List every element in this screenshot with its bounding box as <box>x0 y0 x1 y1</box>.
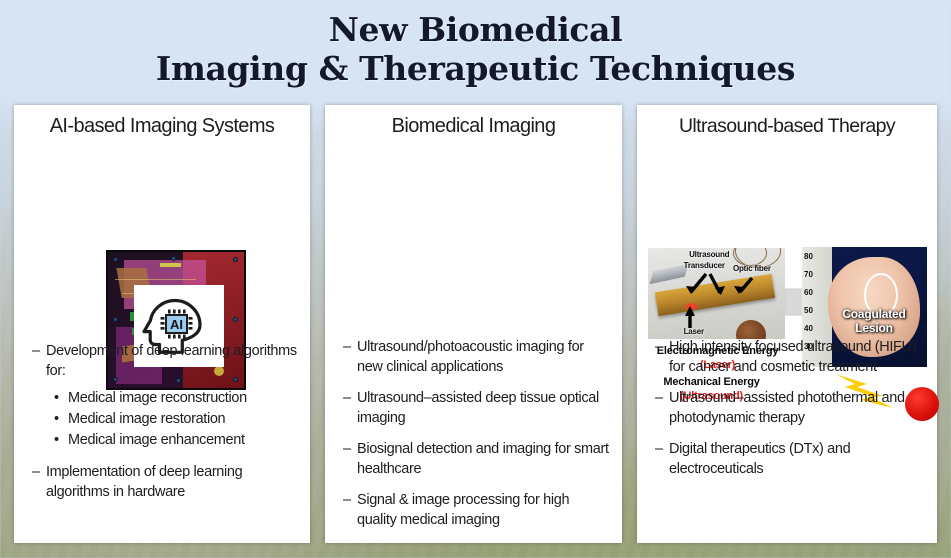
transducer-photo: Ultrasound Transducer Optic fiber Laser <box>648 248 785 339</box>
bullet-text: Biosignal detection and imaging for smar… <box>357 439 610 479</box>
sub-bullet-text: Medical image reconstruction <box>68 388 247 409</box>
ruler-tick: 80 <box>804 252 813 261</box>
panel-2-header: Biomedical Imaging <box>325 115 622 138</box>
bullet-item: – Ultrasound–assisted deep tissue optica… <box>343 388 610 428</box>
panel-3-header: Ultrasound-based Therapy <box>637 115 937 138</box>
panel-1-bullet-list: – Development of deep learning algorithm… <box>32 341 298 513</box>
sub-bullet-marker: • <box>54 409 68 430</box>
svg-text:AI: AI <box>170 317 183 332</box>
panel-ultrasound-based-therapy: Ultrasound-based Therapy Ultrasound Tran… <box>637 105 937 543</box>
bullet-text: Implementation of deep learning algorith… <box>46 462 298 502</box>
bullet-item: – High intensity focused ultrasound (HIF… <box>655 337 925 377</box>
sub-bullet-item: • Medical image restoration <box>54 409 298 430</box>
bullet-item: – Ultrasound–assisted photothermal and p… <box>655 388 925 428</box>
panel-biomedical-imaging: Biomedical Imaging a ←LC SLN Breast Spec… <box>325 105 622 543</box>
sub-bullet-text: Medical image restoration <box>68 409 225 430</box>
bullet-item: – Development of deep learning algorithm… <box>32 341 298 381</box>
bullet-item: – Digital therapeutics (DTx) and electro… <box>655 439 925 479</box>
sub-bullet-text: Medical image enhancement <box>68 430 245 451</box>
bullet-marker: – <box>655 388 669 428</box>
panel-ai-based-imaging-systems: AI-based Imaging Systems AI <box>14 105 310 543</box>
title-line-2: Imaging & Therapeutic Techniques <box>0 49 951 88</box>
sub-bullet-item: • Medical image enhancement <box>54 430 298 451</box>
bullet-text: Ultrasound/photoacoustic imaging for new… <box>357 337 610 377</box>
ruler-tick: 70 <box>804 270 813 279</box>
panel-1-header: AI-based Imaging Systems <box>14 115 310 138</box>
sub-bullet-marker: • <box>54 388 68 409</box>
bullet-marker: – <box>32 341 46 381</box>
lesion-label: Coagulated Lesion <box>824 307 924 335</box>
bullet-item: – Signal & image processing for high qua… <box>343 490 610 530</box>
bullet-item: – Biosignal detection and imaging for sm… <box>343 439 610 479</box>
ruler-tick: 60 <box>804 288 813 297</box>
bullet-marker: – <box>32 462 46 502</box>
bullet-marker: – <box>343 337 357 377</box>
bullet-text: Digital therapeutics (DTx) and electroce… <box>669 439 925 479</box>
page-title: New Biomedical Imaging & Therapeutic Tec… <box>0 10 951 88</box>
sub-bullet-item: • Medical image reconstruction <box>54 388 298 409</box>
panel-2-bullet-list: – Ultrasound/photoacoustic imaging for n… <box>343 337 610 541</box>
panel-3-bullet-list: – High intensity focused ultrasound (HIF… <box>655 337 925 490</box>
bullet-marker: – <box>655 439 669 479</box>
bullet-marker: – <box>343 490 357 530</box>
panel-1-sub-list: • Medical image reconstruction • Medical… <box>54 388 298 451</box>
effect-temperature-rise: Temperature Rise <box>943 373 951 385</box>
bullet-marker: – <box>655 337 669 377</box>
bullet-marker: – <box>343 388 357 428</box>
bullet-text: Signal & image processing for high quali… <box>357 490 610 530</box>
sub-bullet-marker: • <box>54 430 68 451</box>
effect-tissue-damage: Tissue Damage <box>943 413 951 425</box>
bullet-text: Ultrasound–assisted photothermal and pho… <box>669 388 925 428</box>
ruler-tick: 40 <box>804 324 813 333</box>
bullet-marker: – <box>343 439 357 479</box>
bullet-item: – Ultrasound/photoacoustic imaging for n… <box>343 337 610 377</box>
title-line-1: New Biomedical <box>0 10 951 49</box>
bullet-text: Development of deep learning algorithms … <box>46 341 298 381</box>
bullet-text: Ultrasound–assisted deep tissue optical … <box>357 388 610 428</box>
bullet-item: – Implementation of deep learning algori… <box>32 462 298 502</box>
bullet-text: High intensity focused ultrasound (HIFU)… <box>669 337 925 377</box>
ruler-tick: 50 <box>804 306 813 315</box>
